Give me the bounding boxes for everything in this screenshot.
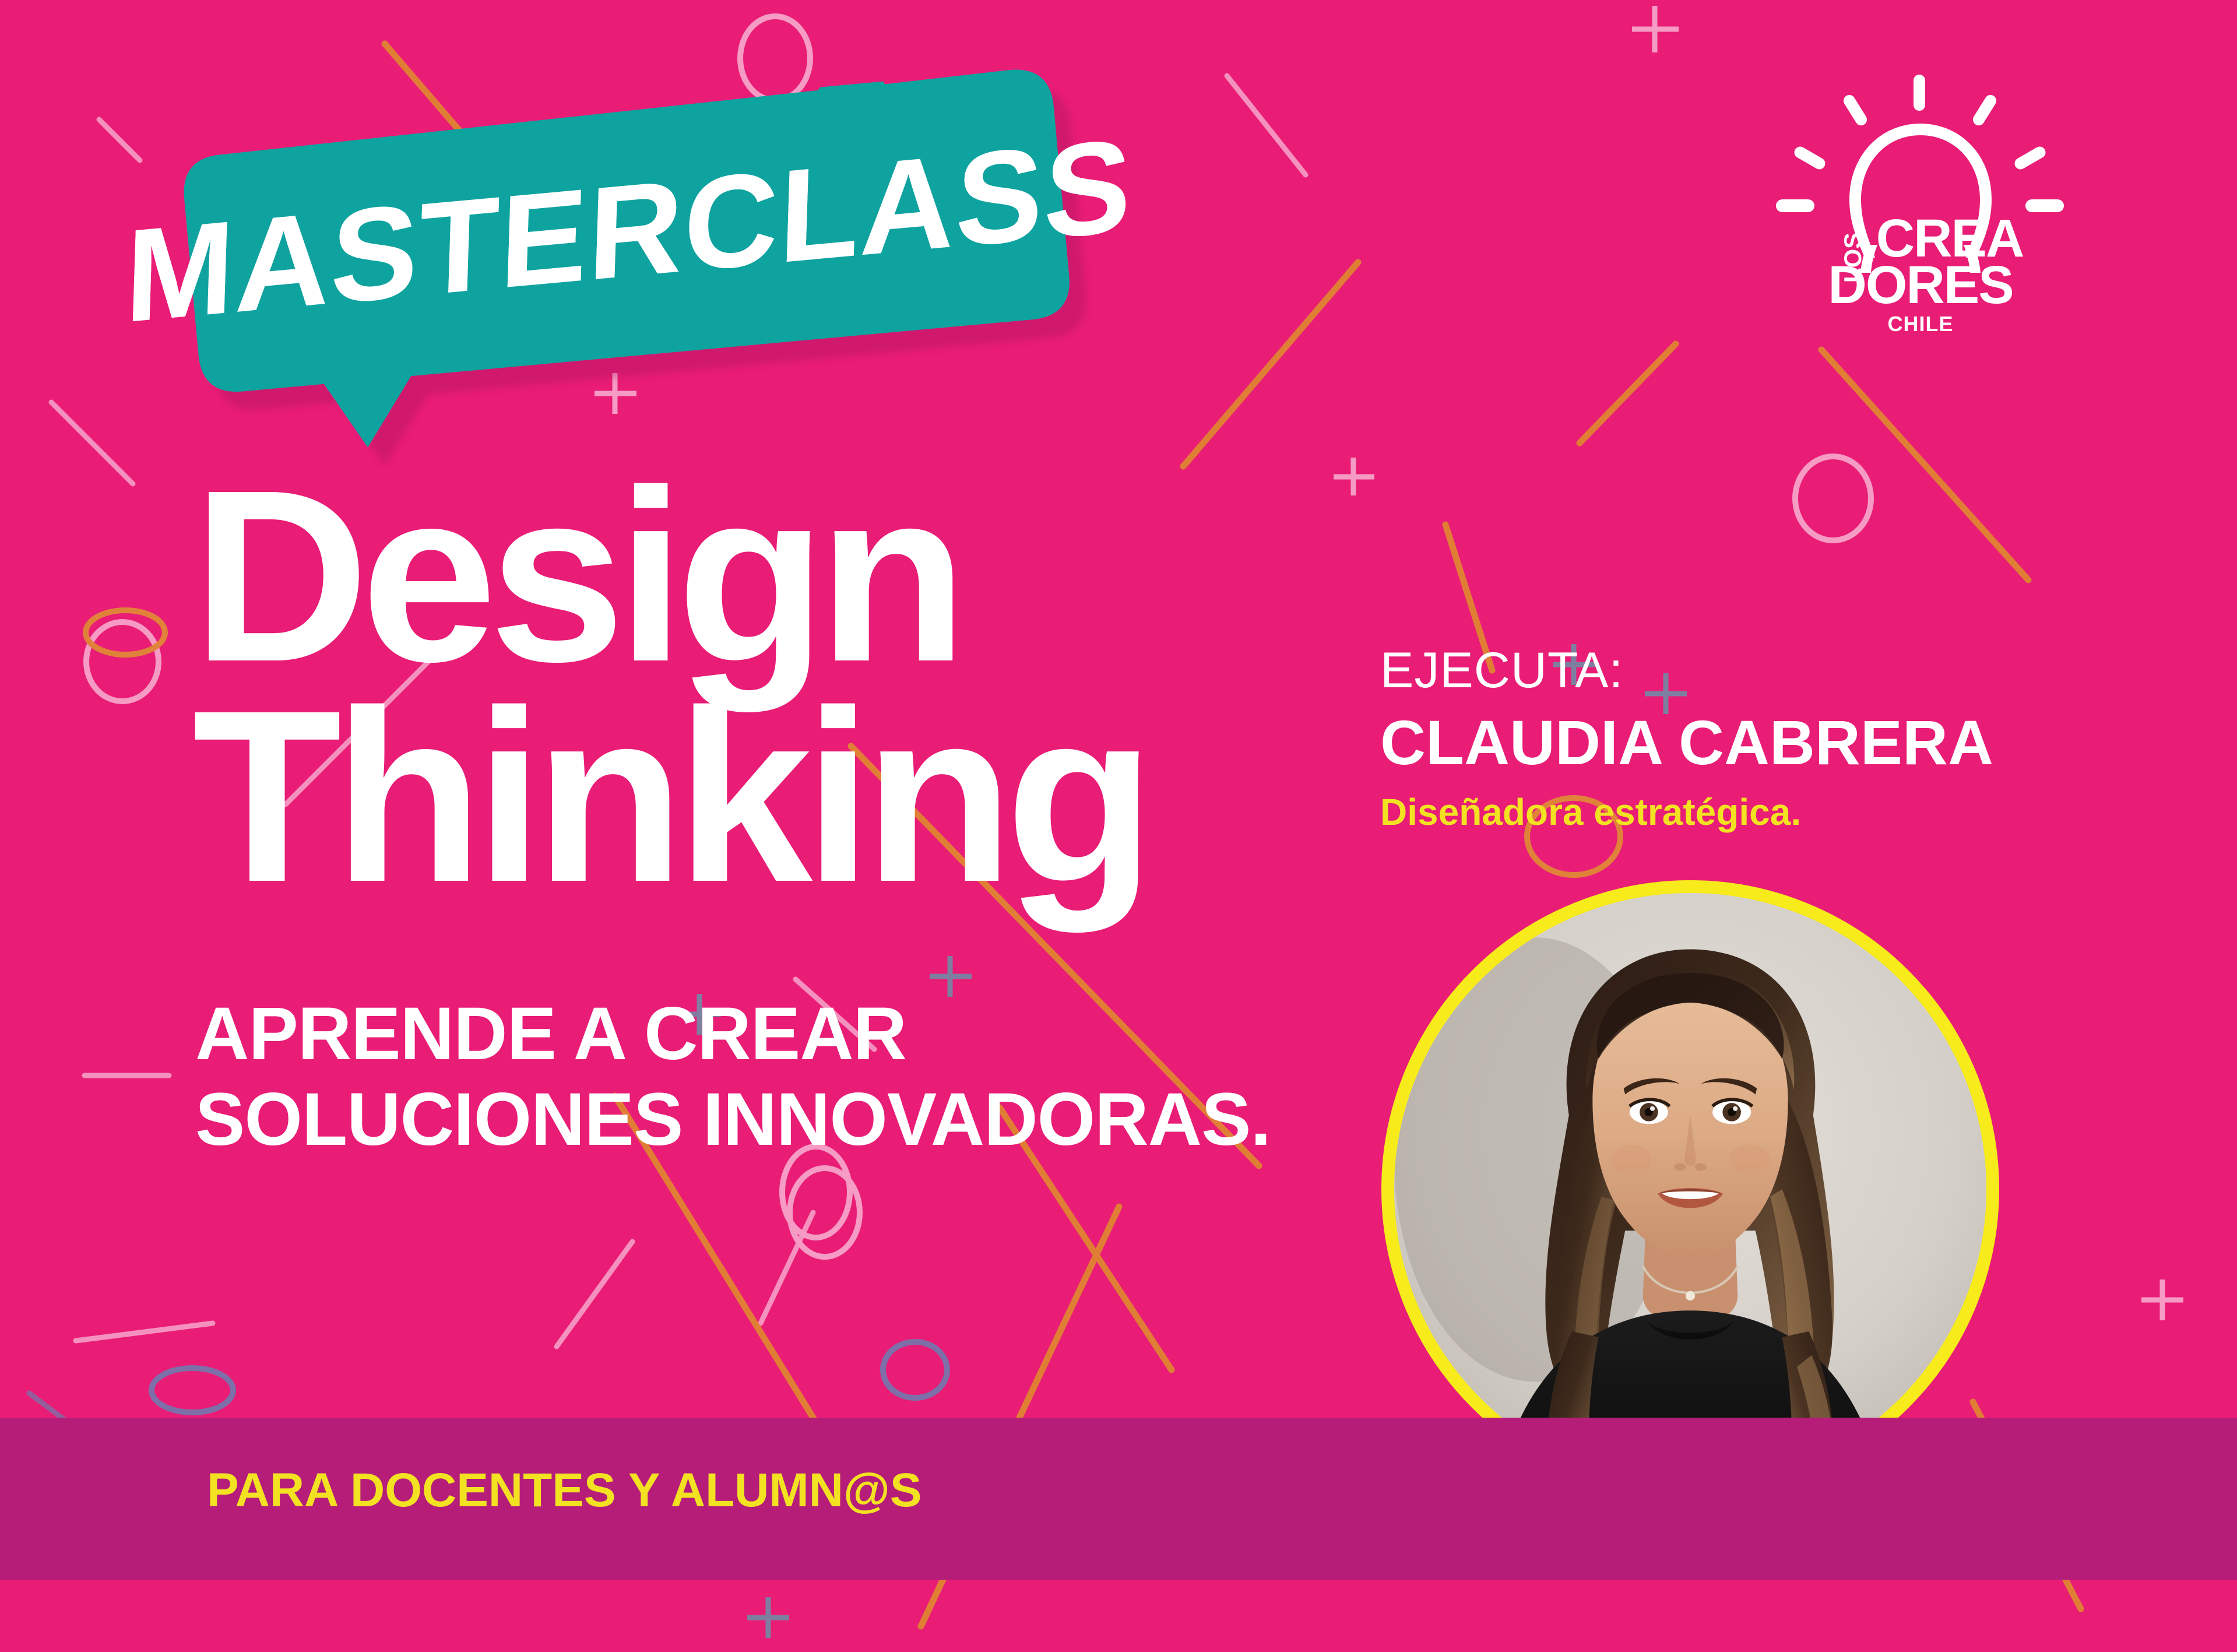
deco-circle-purple — [152, 1368, 233, 1412]
deco-line-orange — [1821, 350, 2028, 580]
footer-note: PARA DOCENTES Y ALUMN@S — [207, 1463, 922, 1518]
poster-canvas: MASTERCLASS Design Thinking APRENDE A CR… — [0, 0, 2237, 1652]
title-line-2: Thinking — [192, 687, 1329, 907]
page-title: Design Thinking — [192, 466, 1329, 907]
subtitle: APRENDE A CREAR SOLUCIONES INNOVADORAS. — [195, 991, 1361, 1162]
deco-cross-pink — [1334, 458, 1374, 495]
logo-dores: DORES — [1828, 255, 2013, 315]
deco-circle-purple — [883, 1342, 947, 1398]
speaker-portrait-photo — [1394, 893, 1986, 1485]
masterclass-badge: MASTERCLASS — [180, 66, 1086, 471]
deco-line-pink — [1227, 76, 1306, 175]
speaker-role: Diseñadora estratégica. — [1380, 790, 2080, 835]
deco-circle-pink — [740, 16, 810, 100]
logo-chile: CHILE — [1888, 312, 1954, 336]
avatar — [1381, 880, 1999, 1498]
deco-circle-orange — [86, 610, 165, 655]
deco-cross-pink — [2141, 1280, 2183, 1320]
speaker-kicker: EJECUTA: — [1380, 644, 2080, 697]
subtitle-line-1: APRENDE A CREAR — [195, 991, 1361, 1077]
deco-line-pink — [99, 119, 140, 160]
brand-logo: LOS CREA DORES CHILE — [1763, 70, 2078, 350]
deco-line-orange — [1183, 262, 1358, 466]
deco-circle-pink — [790, 1168, 860, 1257]
subtitle-line-2: SOLUCIONES INNOVADORAS. — [195, 1077, 1361, 1162]
deco-line-pink — [557, 1242, 632, 1347]
lightbulb-icon: LOS CREA DORES CHILE — [1763, 70, 2078, 350]
speaker-name: CLAUDIA CABRERA — [1380, 705, 2080, 781]
deco-cross-pink — [1632, 6, 1679, 52]
deco-line-pink — [51, 402, 133, 484]
deco-line-pink — [761, 1212, 813, 1323]
deco-line-orange — [1580, 344, 1676, 443]
deco-circle-pink — [86, 622, 159, 701]
deco-cross-purple — [747, 1597, 789, 1638]
speaker-block: EJECUTA: CLAUDIA CABRERA Diseñadora estr… — [1380, 644, 2080, 835]
deco-line-pink — [76, 1323, 213, 1341]
title-line-1: Design — [192, 466, 1329, 687]
deco-circle-pink — [1795, 456, 1871, 540]
